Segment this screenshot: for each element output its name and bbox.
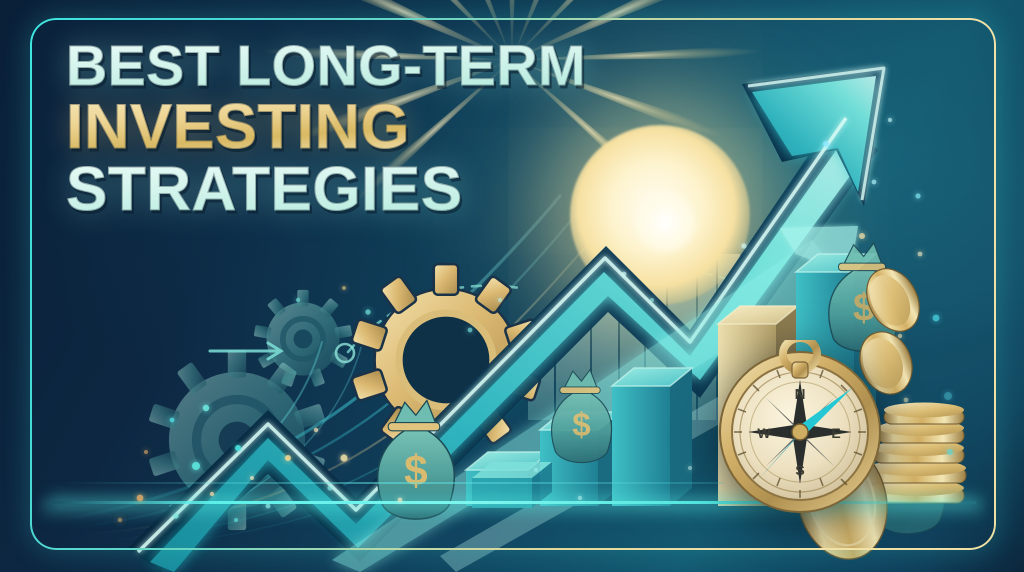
compass-north-label: N [795, 386, 806, 403]
gold-coin-upper-icon [856, 260, 929, 341]
headline-line-1: BEST LONG-TERM [66, 40, 586, 94]
compass-west-label: W [757, 425, 771, 441]
compass-icon: N E S W [712, 340, 888, 516]
headline-block: BEST LONG-TERM INVESTING STRATEGIES [66, 40, 586, 219]
compass-south-label: S [795, 462, 804, 478]
secondary-groundline [60, 482, 724, 484]
headline-line-2: INVESTING [66, 98, 586, 157]
coin-stack-coin [884, 403, 964, 425]
poster-canvas: $ $ $ [0, 0, 1024, 572]
headline-line-3: STRATEGIES [66, 161, 586, 219]
compass-east-label: E [831, 425, 840, 441]
